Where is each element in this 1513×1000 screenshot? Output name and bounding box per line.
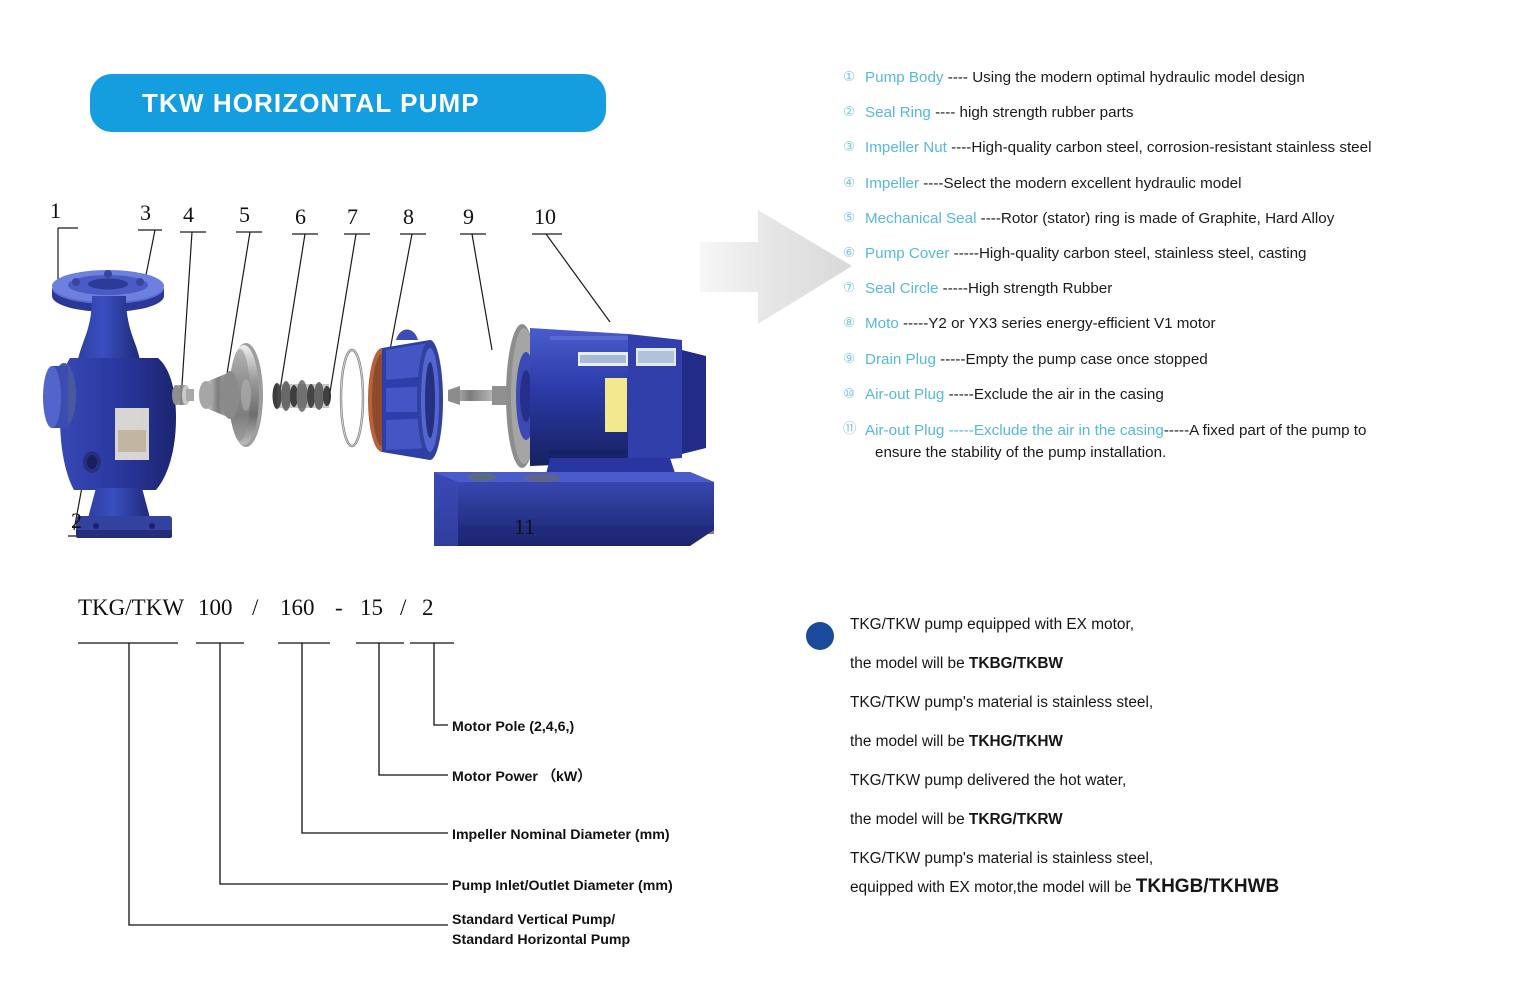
legend-description: Select the modern excellent hydraulic mo… <box>943 175 1241 192</box>
page-root: TKW HORIZONTAL PUMP <box>0 0 1513 1000</box>
legend-separator: ----- <box>938 280 968 297</box>
legend-separator: ----- <box>944 386 974 403</box>
legend-item-5: ⑤ Mechanical Seal ----Rotor (stator) rin… <box>843 209 1503 228</box>
legend-part-name: Air-out Plug <box>865 422 944 439</box>
model-label-motor-pole: Motor Pole (2,4,6,) <box>452 718 574 737</box>
legend-number-icon: ⑪ <box>843 420 865 438</box>
legend-text: Seal Circle -----High strength Rubber <box>865 279 1503 298</box>
note-line-5: TKG/TKW pump delivered the hot water, <box>850 772 1426 790</box>
legend-separator: ----- <box>899 315 929 332</box>
callout-number-6: 6 <box>295 206 306 228</box>
note-text: the model will be <box>850 733 969 750</box>
legend-part-name: Seal Ring <box>865 104 931 121</box>
parts-legend-list: ① Pump Body ---- Using the modern optima… <box>843 68 1503 480</box>
note-text: the model will be <box>850 811 969 828</box>
legend-part-name: Pump Body <box>865 69 944 86</box>
legend-number-icon: ③ <box>843 138 865 156</box>
legend-text: Moto -----Y2 or YX3 series energy-effici… <box>865 314 1503 333</box>
legend-number-icon: ⑨ <box>843 350 865 368</box>
legend-separator: ---- <box>947 139 971 156</box>
legend-part-name: Impeller Nut <box>865 139 947 156</box>
legend-text: Air-out Plug -----Exclude the air in the… <box>865 420 1503 464</box>
note-text: TKG/TKW pump's material is stainless ste… <box>850 850 1153 867</box>
legend-description: High strength Rubber <box>968 280 1112 297</box>
note-model-name: TKBG/TKBW <box>969 655 1063 672</box>
note-text: TKG/TKW pump delivered the hot water, <box>850 772 1126 789</box>
legend-part-name: Seal Circle <box>865 280 938 297</box>
legend-item-4: ④ Impeller ----Select the modern excelle… <box>843 174 1503 193</box>
legend-text: Air-out Plug -----Exclude the air in the… <box>865 385 1503 404</box>
legend-number-icon: ⑤ <box>843 209 865 227</box>
note-line-7: TKG/TKW pump's material is stainless ste… <box>850 850 1426 868</box>
legend-separator: ----- <box>936 351 966 368</box>
legend-part-name: Pump Cover <box>865 245 949 262</box>
legend-number-icon: ⑥ <box>843 244 865 262</box>
note-model-name: TKHG/TKHW <box>969 733 1063 750</box>
callout-number-3: 3 <box>140 202 151 224</box>
callout-number-7: 7 <box>347 206 358 228</box>
legend-item-1: ① Pump Body ---- Using the modern optima… <box>843 68 1503 87</box>
callout-number-11: 11 <box>514 516 535 538</box>
legend-item-11: ⑪ Air-out Plug -----Exclude the air in t… <box>843 420 1503 464</box>
pump-illustration <box>30 200 720 580</box>
legend-description: high strength rubber parts <box>960 104 1134 121</box>
legend-separator: ---- <box>944 69 973 86</box>
legend-item-6: ⑥ Pump Cover -----High-quality carbon st… <box>843 244 1503 263</box>
note-text: equipped with EX motor,the model will be <box>850 879 1136 896</box>
legend-description: Rotor (stator) ring is made of Graphite,… <box>1001 210 1334 227</box>
model-variants-notes: TKG/TKW pump equipped with EX motor, the… <box>806 616 1426 919</box>
legend-number-icon: ② <box>843 103 865 121</box>
legend-part-name: Mechanical Seal <box>865 210 976 227</box>
legend-separator: ----- <box>949 245 979 262</box>
legend-description: Empty the pump case once stopped <box>965 351 1207 368</box>
legend-description: Exclude the air in the casing <box>974 386 1164 403</box>
legend-item-3: ③ Impeller Nut ----High-quality carbon s… <box>843 138 1503 157</box>
legend-text: Impeller ----Select the modern excellent… <box>865 174 1503 193</box>
notes-lines: TKG/TKW pump equipped with EX motor, the… <box>850 616 1426 898</box>
note-text: TKG/TKW pump's material is stainless ste… <box>850 694 1153 711</box>
callout-number-5: 5 <box>239 204 250 226</box>
exploded-pump-diagram: 1 3 4 5 6 7 8 9 10 2 11 <box>30 200 720 580</box>
legend-text: Pump Body ---- Using the modern optimal … <box>865 68 1503 87</box>
legend-number-icon: ④ <box>843 174 865 192</box>
model-label-standard-pump-2: Standard Horizontal Pump <box>452 931 630 950</box>
bullet-dot-icon <box>806 622 834 650</box>
legend-part-name: Air-out Plug <box>865 386 944 403</box>
note-line-3: TKG/TKW pump's material is stainless ste… <box>850 694 1426 712</box>
legend-separator: ---- <box>931 104 960 121</box>
note-model-name: TKRG/TKRW <box>969 811 1063 828</box>
legend-text: Mechanical Seal ----Rotor (stator) ring … <box>865 209 1503 228</box>
legend-text: Impeller Nut ----High-quality carbon ste… <box>865 138 1503 157</box>
callout-number-1: 1 <box>50 200 61 222</box>
legend-part-name: Impeller <box>865 175 919 192</box>
model-label-impeller-diam: Impeller Nominal Diameter (mm) <box>452 826 670 845</box>
legend-number-icon: ① <box>843 68 865 86</box>
legend-description-line2: ensure the stability of the pump install… <box>865 442 1503 464</box>
note-line-6: the model will be TKRG/TKRW <box>850 811 1426 829</box>
title-banner: TKW HORIZONTAL PUMP <box>90 74 606 132</box>
legend-number-icon: ⑦ <box>843 279 865 297</box>
legend-description-blue: Exclude the air in the casing <box>974 422 1164 439</box>
callout-number-4: 4 <box>183 204 194 226</box>
legend-separator: ---- <box>976 210 1000 227</box>
legend-text: Seal Ring ---- high strength rubber part… <box>865 103 1503 122</box>
legend-item-10: ⑩ Air-out Plug -----Exclude the air in t… <box>843 385 1503 404</box>
model-code-breakdown: TKG/TKW 100 / 160 - 15 / 2 <box>30 595 730 970</box>
note-line-2: the model will be TKBG/TKBW <box>850 655 1426 673</box>
callout-number-2: 2 <box>71 510 82 532</box>
model-label-inlet-diam: Pump Inlet/Outlet Diameter (mm) <box>452 877 673 896</box>
note-line-1: TKG/TKW pump equipped with EX motor, <box>850 616 1426 634</box>
page-title: TKW HORIZONTAL PUMP <box>142 88 480 119</box>
note-line-4: the model will be TKHG/TKHW <box>850 733 1426 751</box>
legend-item-8: ⑧ Moto -----Y2 or YX3 series energy-effi… <box>843 314 1503 333</box>
callout-number-9: 9 <box>463 206 474 228</box>
legend-separator: ---- <box>919 175 943 192</box>
model-label-standard-pump-1: Standard Vertical Pump/ <box>452 911 615 930</box>
legend-description: Using the modern optimal hydraulic model… <box>972 69 1305 86</box>
legend-item-7: ⑦ Seal Circle -----High strength Rubber <box>843 279 1503 298</box>
legend-item-9: ⑨ Drain Plug -----Empty the pump case on… <box>843 350 1503 369</box>
legend-description: High-quality carbon steel, corrosion-res… <box>971 139 1371 156</box>
legend-description: Y2 or YX3 series energy-efficient V1 mot… <box>928 315 1215 332</box>
model-leader-lines <box>30 595 730 970</box>
legend-description: A fixed part of the pump to <box>1189 422 1366 439</box>
note-model-name: TKHGB/TKHWB <box>1136 876 1280 897</box>
note-text: the model will be <box>850 655 969 672</box>
right-arrow-icon <box>700 208 860 328</box>
legend-number-icon: ⑧ <box>843 314 865 332</box>
legend-separator-2: ----- <box>1164 422 1189 439</box>
callout-number-10: 10 <box>534 206 556 228</box>
callout-number-8: 8 <box>403 206 414 228</box>
note-text: TKG/TKW pump equipped with EX motor, <box>850 616 1134 633</box>
legend-separator: ----- <box>944 422 974 439</box>
legend-part-name: Moto <box>865 315 899 332</box>
legend-number-icon: ⑩ <box>843 385 865 403</box>
legend-description: High-quality carbon steel, stainless ste… <box>979 245 1307 262</box>
legend-part-name: Drain Plug <box>865 351 936 368</box>
legend-item-2: ② Seal Ring ---- high strength rubber pa… <box>843 103 1503 122</box>
model-label-motor-power: Motor Power （kW） <box>452 768 592 787</box>
legend-text: Pump Cover -----High-quality carbon stee… <box>865 244 1503 263</box>
note-line-8: equipped with EX motor,the model will be… <box>850 876 1426 898</box>
legend-text: Drain Plug -----Empty the pump case once… <box>865 350 1503 369</box>
